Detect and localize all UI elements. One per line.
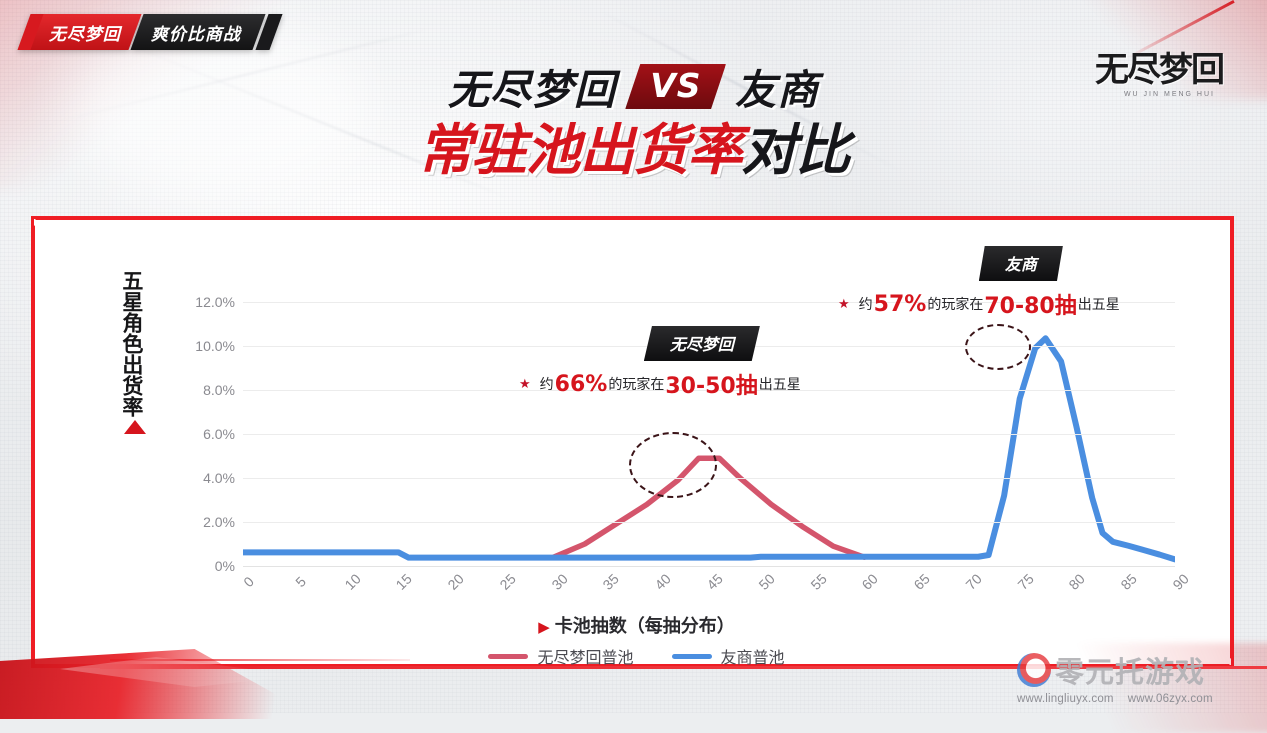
x-tick-label: 40 [652, 570, 674, 592]
grid-line [243, 522, 1175, 523]
star-icon: ★ [838, 297, 850, 312]
annotation-1-tag: 无尽梦回 [644, 326, 760, 361]
x-axis-title-text: 卡池抽数（每抽分布） [555, 616, 735, 637]
x-axis-title: ▶卡池抽数（每抽分布） [35, 612, 1238, 638]
x-tick-label: 90 [1169, 570, 1191, 592]
annotation-2-tag: 友商 [979, 246, 1063, 281]
highlight-ellipse-red-peak [629, 432, 717, 498]
annotation-1-prefix: 约 [540, 374, 554, 394]
y-axis-ticks: 0%2.0%4.0%6.0%8.0%10.0%12.0% [175, 220, 235, 672]
x-tick-label: 30 [548, 570, 570, 592]
legend-label-red: 无尽梦回普池 [537, 644, 633, 668]
x-tick-label: 70 [962, 570, 984, 592]
annotation-2-mid: 的玩家在 [927, 294, 983, 314]
annotation-2-tagwrap: 友商 [838, 246, 1120, 281]
watermark-urls: www.lingliuyx.comwww.06zyx.com [1017, 693, 1227, 705]
headline-row-subject: 常驻池出货率对比 [0, 122, 1267, 180]
x-tick-label: 5 [292, 573, 309, 590]
x-tick-label: 45 [703, 570, 725, 592]
annotation-2-percent: 57% [873, 292, 928, 317]
legend-item-wujinmenghui[interactable]: 无尽梦回普池 [488, 644, 633, 668]
y-tick-label: 4.0% [203, 470, 235, 486]
play-triangle-icon: ▶ [538, 618, 550, 636]
x-tick-label: 15 [393, 570, 415, 592]
x-tick-label: 50 [755, 570, 777, 592]
x-tick-label: 80 [1066, 570, 1088, 592]
y-tick-label: 12.0% [195, 294, 235, 310]
x-tick-label: 25 [496, 570, 518, 592]
annotation-1-text: ★ 约 66% 的玩家在 30-50抽 出五星 [519, 368, 801, 400]
x-tick-label: 10 [341, 570, 363, 592]
chart-frame: 五星角色出货率 0%2.0%4.0%6.0%8.0%10.0%12.0% 051… [31, 216, 1234, 668]
y-axis-title: 五星角色出货率 [120, 270, 150, 434]
highlight-ellipse-blue-peak [965, 324, 1031, 370]
x-tick-label: 20 [445, 570, 467, 592]
headline-subject-red: 常驻池出货率 [417, 118, 741, 182]
x-tick-label: 0 [240, 573, 257, 590]
y-tick-label: 2.0% [203, 514, 235, 530]
headline-vs-chip: VS [625, 64, 726, 109]
y-tick-label: 6.0% [203, 426, 235, 442]
y-tick-label: 10.0% [195, 338, 235, 354]
promo-badge: 无尽梦回 爽价比商战 [24, 14, 276, 50]
x-tick-label: 55 [807, 570, 829, 592]
badge-brand-label: 无尽梦回 [49, 20, 121, 45]
x-tick-label: 75 [1014, 570, 1036, 592]
badge-brand: 无尽梦回 [30, 14, 141, 50]
watermark-url-2: www.06zyx.com [1128, 693, 1213, 705]
watermark-logo-icon [1017, 653, 1051, 687]
annotation-1-tagwrap: 无尽梦回 [519, 326, 801, 361]
watermark-name: 零元托游戏 [1055, 649, 1205, 691]
grid-line [243, 434, 1175, 435]
legend-item-youshang[interactable]: 友商普池 [672, 644, 785, 668]
headline-block: 无尽梦回 VS 友商 常驻池出货率对比 [0, 56, 1267, 180]
annotation-2-text: ★ 约 57% 的玩家在 70-80抽 出五星 [838, 288, 1120, 320]
legend-label-blue: 友商普池 [721, 644, 785, 668]
annotation-1-suffix: 出五星 [759, 374, 801, 394]
watermark: 零元托游戏 www.lingliuyx.comwww.06zyx.com [1017, 649, 1253, 707]
headline-vs-label: VS [650, 66, 701, 105]
badge-campaign-label: 爽价比商战 [151, 20, 241, 45]
headline-right-brand: 友商 [735, 56, 819, 116]
annotation-2-range: 70-80抽 [983, 288, 1077, 320]
y-axis-arrow-icon [124, 420, 146, 434]
watermark-url-1: www.lingliuyx.com [1017, 693, 1114, 705]
annotation-2-prefix: 约 [859, 294, 873, 314]
x-tick-label: 60 [859, 570, 881, 592]
x-tick-label: 35 [600, 570, 622, 592]
x-tick-label: 65 [911, 570, 933, 592]
x-axis-line [243, 566, 1175, 567]
legend-swatch-red [488, 654, 528, 659]
star-icon: ★ [519, 377, 531, 392]
chart-plot-area: 五星角色出货率 0%2.0%4.0%6.0%8.0%10.0%12.0% 051… [35, 220, 1238, 672]
headline-row-vs: 无尽梦回 VS 友商 [448, 56, 819, 116]
headline-subject-dark: 对比 [742, 118, 850, 182]
badge-campaign: 爽价比商战 [130, 14, 265, 50]
annotation-2-suffix: 出五星 [1078, 294, 1120, 314]
annotation-1-range: 30-50抽 [664, 368, 758, 400]
annotation-1-mid: 的玩家在 [608, 374, 664, 394]
headline-left-brand: 无尽梦回 [448, 56, 616, 116]
y-tick-label: 0% [215, 558, 235, 574]
annotation-youshang: 友商 ★ 约 57% 的玩家在 70-80抽 出五星 [838, 246, 1120, 320]
annotation-1-percent: 66% [554, 372, 609, 397]
y-tick-label: 8.0% [203, 382, 235, 398]
annotation-wujinmenghui: 无尽梦回 ★ 约 66% 的玩家在 30-50抽 出五星 [519, 326, 801, 400]
y-axis-title-text: 五星角色出货率 [120, 270, 142, 417]
legend-swatch-blue [672, 654, 712, 659]
x-tick-label: 85 [1118, 570, 1140, 592]
